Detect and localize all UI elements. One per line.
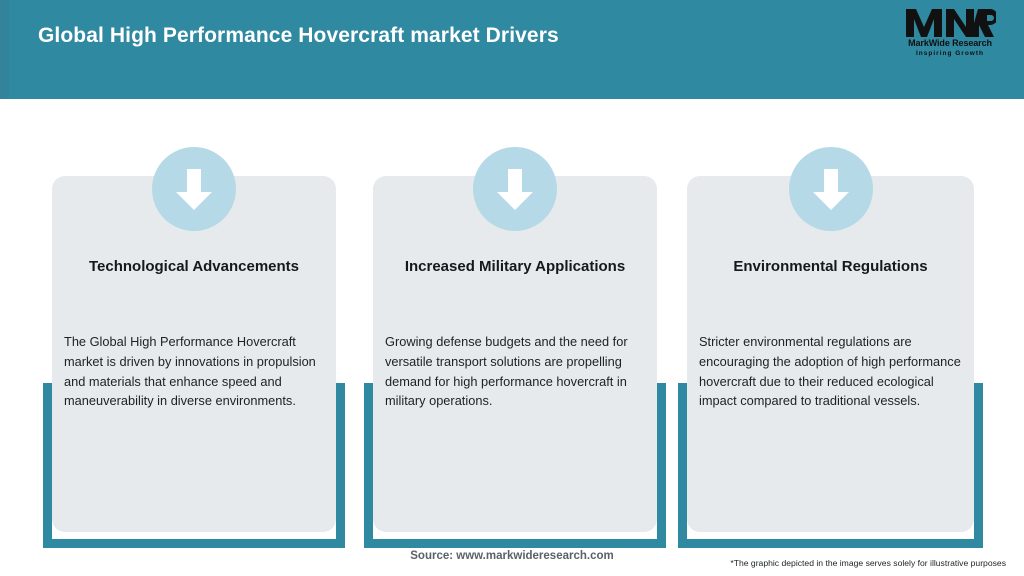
card-description: Growing defense budgets and the need for… <box>385 332 645 411</box>
card-description: The Global High Performance Hovercraft m… <box>64 332 324 411</box>
drivers-card-list: Technological Advancements The Global Hi… <box>0 99 1024 539</box>
brand-logo: MarkWide Research Inspiring Growth <box>898 8 1002 66</box>
card-title: Technological Advancements <box>66 255 322 278</box>
logo-mark-icon <box>898 8 1002 38</box>
page-title: Global High Performance Hovercraft marke… <box>38 24 559 48</box>
driver-card-2: Increased Military Applications Growing … <box>364 99 666 539</box>
card-title: Environmental Regulations <box>701 255 960 278</box>
logo-company-name: MarkWide Research <box>898 38 1002 49</box>
arrow-down-icon <box>473 147 557 231</box>
arrow-down-icon <box>789 147 873 231</box>
card-description: Stricter environmental regulations are e… <box>699 332 962 411</box>
disclaimer-text: *The graphic depicted in the image serve… <box>730 558 1006 568</box>
driver-card-1: Technological Advancements The Global Hi… <box>43 99 345 539</box>
logo-tagline: Inspiring Growth <box>898 49 1002 58</box>
driver-card-3: Environmental Regulations Stricter envir… <box>678 99 983 539</box>
page-header: Global High Performance Hovercraft marke… <box>0 0 1024 99</box>
header-left-accent-strip <box>0 0 9 99</box>
card-title: Increased Military Applications <box>387 255 643 278</box>
arrow-down-icon <box>152 147 236 231</box>
